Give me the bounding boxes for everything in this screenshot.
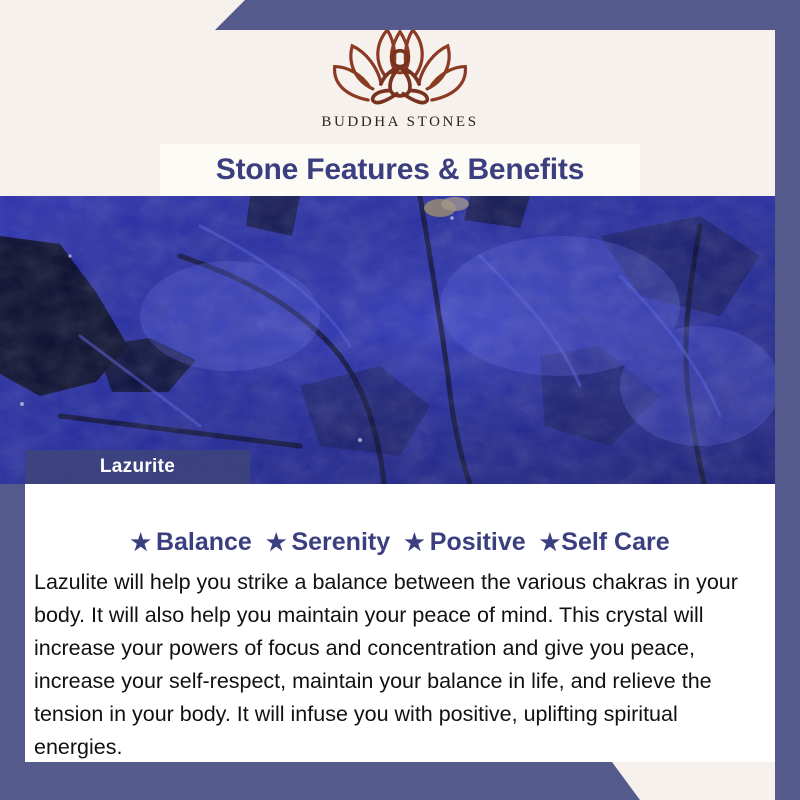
brand-name: BUDDHA STONES bbox=[321, 114, 478, 131]
lotus-meditation-icon bbox=[320, 22, 480, 108]
stone-texture bbox=[0, 196, 800, 484]
keyword-self-care: ★ Self Care bbox=[540, 528, 670, 557]
keyword-label: Balance bbox=[156, 528, 252, 557]
star-icon: ★ bbox=[266, 531, 287, 554]
keyword-balance: ★ Balance bbox=[130, 528, 252, 557]
left-decorative-border bbox=[0, 484, 25, 800]
keyword-label: Self Care bbox=[561, 528, 669, 557]
bottom-decorative-band bbox=[0, 762, 640, 800]
star-icon: ★ bbox=[404, 531, 425, 554]
keyword-row: ★ Balance ★ Serenity ★ Positive ★ Self C… bbox=[25, 528, 775, 557]
stone-name-label: Lazurite bbox=[25, 450, 250, 484]
keyword-serenity: ★ Serenity bbox=[266, 528, 390, 557]
poster-canvas: BUDDHA STONES Stone Features & Benefits bbox=[0, 0, 800, 800]
star-icon: ★ bbox=[130, 531, 151, 554]
title-banner: Stone Features & Benefits bbox=[160, 144, 640, 196]
star-icon: ★ bbox=[540, 531, 561, 554]
stone-name-text: Lazurite bbox=[100, 456, 175, 478]
keyword-positive: ★ Positive bbox=[404, 528, 526, 557]
lazurite-stone-photo bbox=[0, 196, 800, 484]
top-decorative-band bbox=[215, 0, 800, 30]
keyword-label: Positive bbox=[430, 528, 526, 557]
right-decorative-border bbox=[775, 0, 800, 800]
keyword-label: Serenity bbox=[291, 528, 390, 557]
brand-logo: BUDDHA STONES bbox=[0, 22, 800, 131]
page-title: Stone Features & Benefits bbox=[216, 153, 584, 187]
body-paragraph: Lazulite will help you strike a balance … bbox=[34, 566, 746, 764]
